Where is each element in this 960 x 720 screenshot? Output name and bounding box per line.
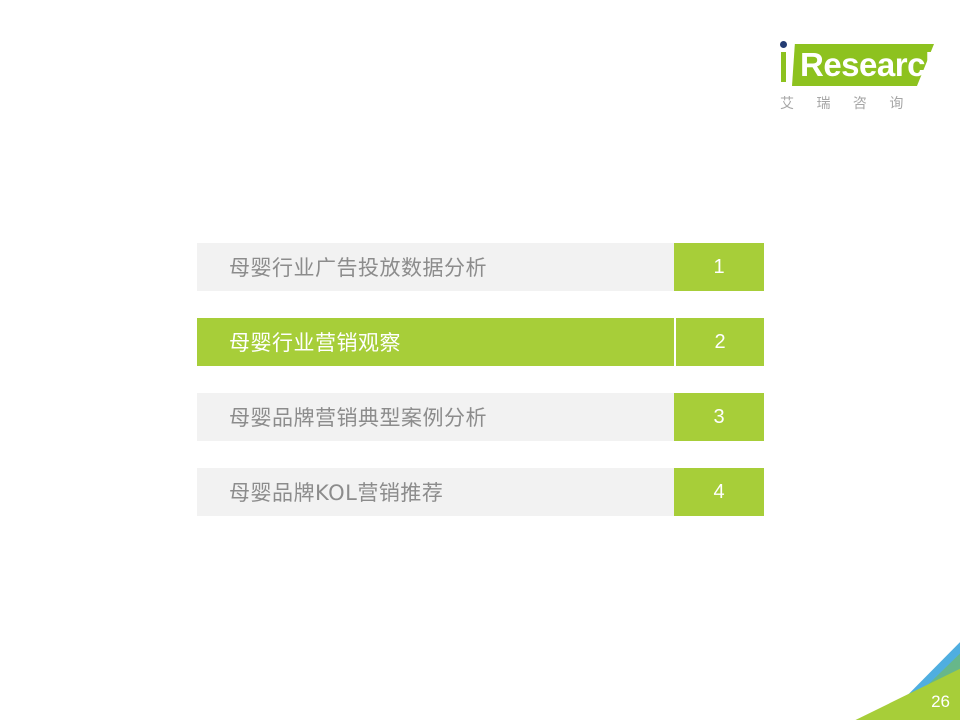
agenda-item-3-label: 母婴品牌营销典型案例分析 — [197, 393, 674, 441]
agenda-item-1-label: 母婴行业广告投放数据分析 — [197, 243, 674, 291]
agenda-list: 母婴行业广告投放数据分析 1 母婴行业营销观察 2 母婴品牌营销典型案例分析 3… — [197, 243, 764, 516]
agenda-item-3[interactable]: 母婴品牌营销典型案例分析 3 — [197, 393, 764, 441]
logo-i-stem-icon — [781, 52, 786, 82]
agenda-item-1[interactable]: 母婴行业广告投放数据分析 1 — [197, 243, 764, 291]
logo-mark: Research — [770, 38, 940, 90]
logo-subtitle: 艾 瑞 咨 询 — [770, 93, 940, 113]
iresearch-logo: Research 艾 瑞 咨 询 — [770, 38, 940, 123]
agenda-item-4[interactable]: 母婴品牌KOL营销推荐 4 — [197, 468, 764, 516]
page-number: 26 — [931, 692, 950, 712]
logo-i-dot-icon — [780, 41, 787, 48]
agenda-item-1-number: 1 — [674, 243, 764, 291]
agenda-item-4-number: 4 — [674, 468, 764, 516]
agenda-item-3-number: 3 — [674, 393, 764, 441]
logo-wordmark: Research — [800, 45, 935, 85]
agenda-item-2-label: 母婴行业营销观察 — [197, 318, 674, 366]
agenda-item-2[interactable]: 母婴行业营销观察 2 — [197, 318, 764, 366]
agenda-item-2-number: 2 — [674, 318, 764, 366]
agenda-item-4-label: 母婴品牌KOL营销推荐 — [197, 468, 674, 516]
